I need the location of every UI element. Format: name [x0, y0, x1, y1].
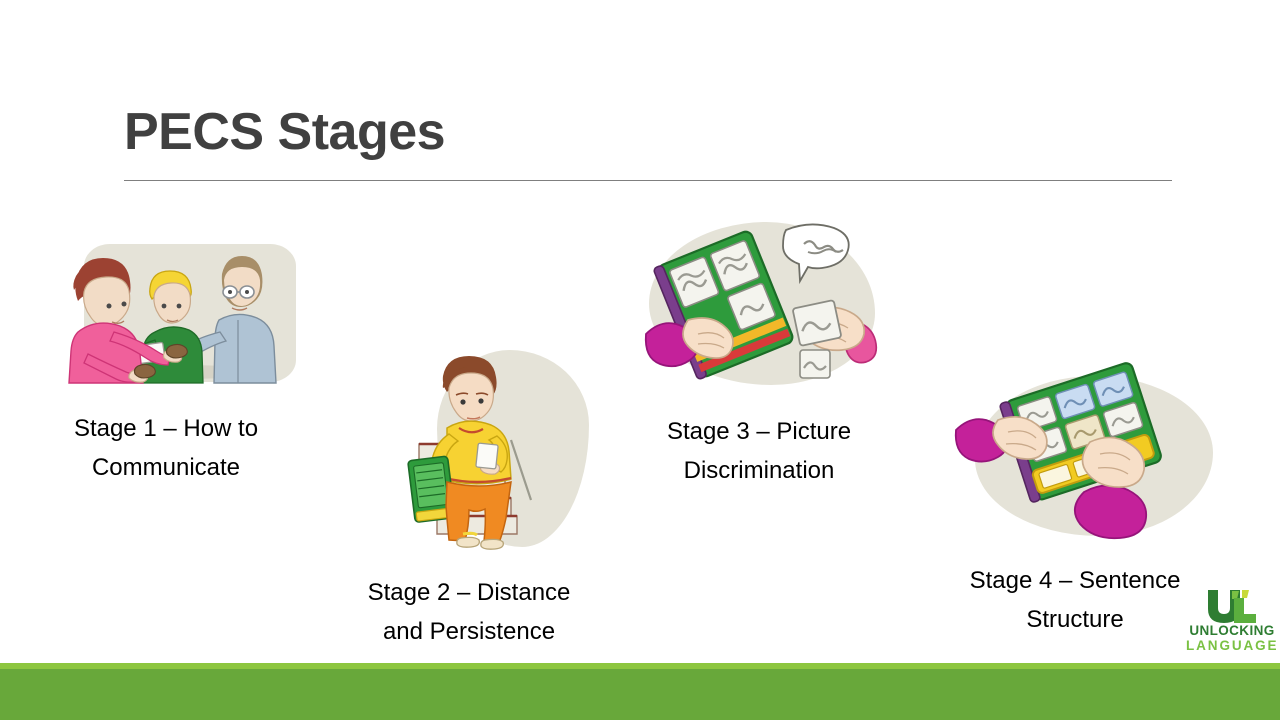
stage-3-block: Stage 3 – Picture Discrimination	[619, 216, 899, 491]
stage-3-caption-line-2: Discrimination	[619, 452, 899, 491]
stage-2-caption-line-2: and Persistence	[329, 613, 609, 652]
logo-text-language: LANGUAGE	[1186, 639, 1278, 653]
stage-3-caption-line-1: Stage 3 – Picture	[619, 413, 899, 452]
stage-2-caption-line-1: Stage 2 – Distance	[329, 574, 609, 613]
unlocking-language-logo: UNLOCKING LANGUAGE	[1186, 588, 1278, 650]
stage-4-caption-line-1: Stage 4 – Sentence	[930, 562, 1220, 601]
footer-bar	[0, 669, 1280, 720]
boy-on-stairs-figure	[385, 348, 553, 548]
stage-1-caption: Stage 1 – How to Communicate	[26, 410, 306, 488]
stage-3-caption: Stage 3 – Picture Discrimination	[619, 413, 899, 491]
stage-2-block: Stage 2 – Distance and Persistence	[329, 348, 609, 652]
title-divider	[124, 180, 1172, 181]
stage-4-caption-line-2: Structure	[930, 601, 1220, 640]
stage-1-illustration	[54, 240, 278, 383]
stage-2-caption: Stage 2 – Distance and Persistence	[329, 574, 609, 652]
ul-logo-icon	[1186, 588, 1278, 624]
stage-2-illustration	[385, 348, 553, 548]
slide-canvas: PECS Stages	[0, 0, 1280, 720]
page-title: PECS Stages	[124, 104, 445, 161]
stage-1-caption-line-2: Communicate	[26, 449, 306, 488]
stage-4-illustration	[952, 372, 1198, 542]
stage-4-block: Stage 4 – Sentence Structure	[930, 372, 1220, 640]
logo-text-unlocking: UNLOCKING	[1186, 624, 1278, 638]
stage-1-caption-line-1: Stage 1 – How to	[26, 410, 306, 449]
stage-3-illustration	[636, 216, 882, 391]
picture-discrimination-figure	[636, 216, 882, 391]
ul-monogram-icon	[1186, 588, 1278, 624]
stage-1-block: Stage 1 – How to Communicate	[26, 240, 306, 488]
stage-4-caption: Stage 4 – Sentence Structure	[930, 562, 1220, 640]
three-people-exchanging-card-figure	[54, 240, 278, 383]
sentence-structure-figure	[952, 372, 1198, 542]
